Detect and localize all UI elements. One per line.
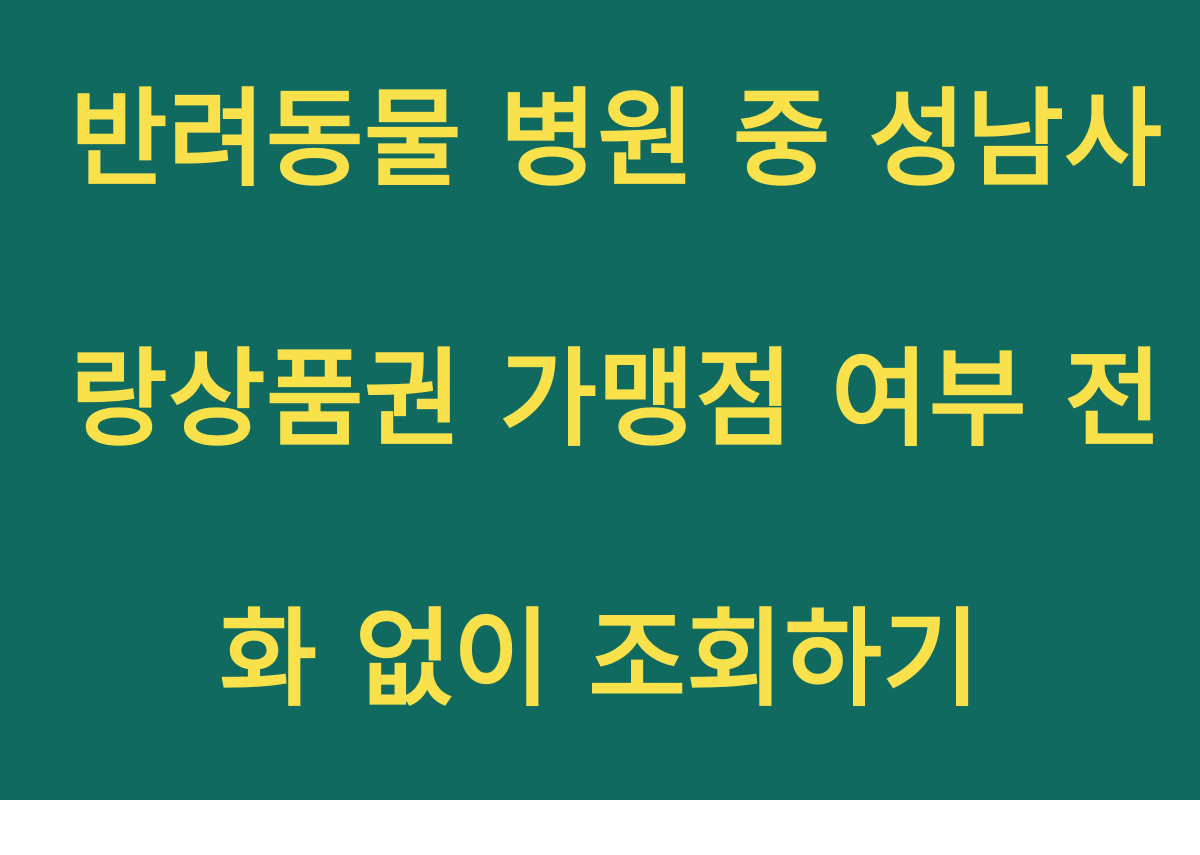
- thumbnail-banner: 반려동물 병원 중 성남사 랑상품권 가맹점 여부 전 화 없이 조회하기: [0, 0, 1200, 800]
- headline-line-3: 화 없이 조회하기: [70, 595, 1130, 725]
- headline-line-1: 반려동물 병원 중 성남사: [70, 75, 1130, 205]
- headline-line-2: 랑상품권 가맹점 여부 전: [70, 335, 1130, 465]
- headline-text: 반려동물 병원 중 성남사 랑상품권 가맹점 여부 전 화 없이 조회하기: [70, 0, 1130, 855]
